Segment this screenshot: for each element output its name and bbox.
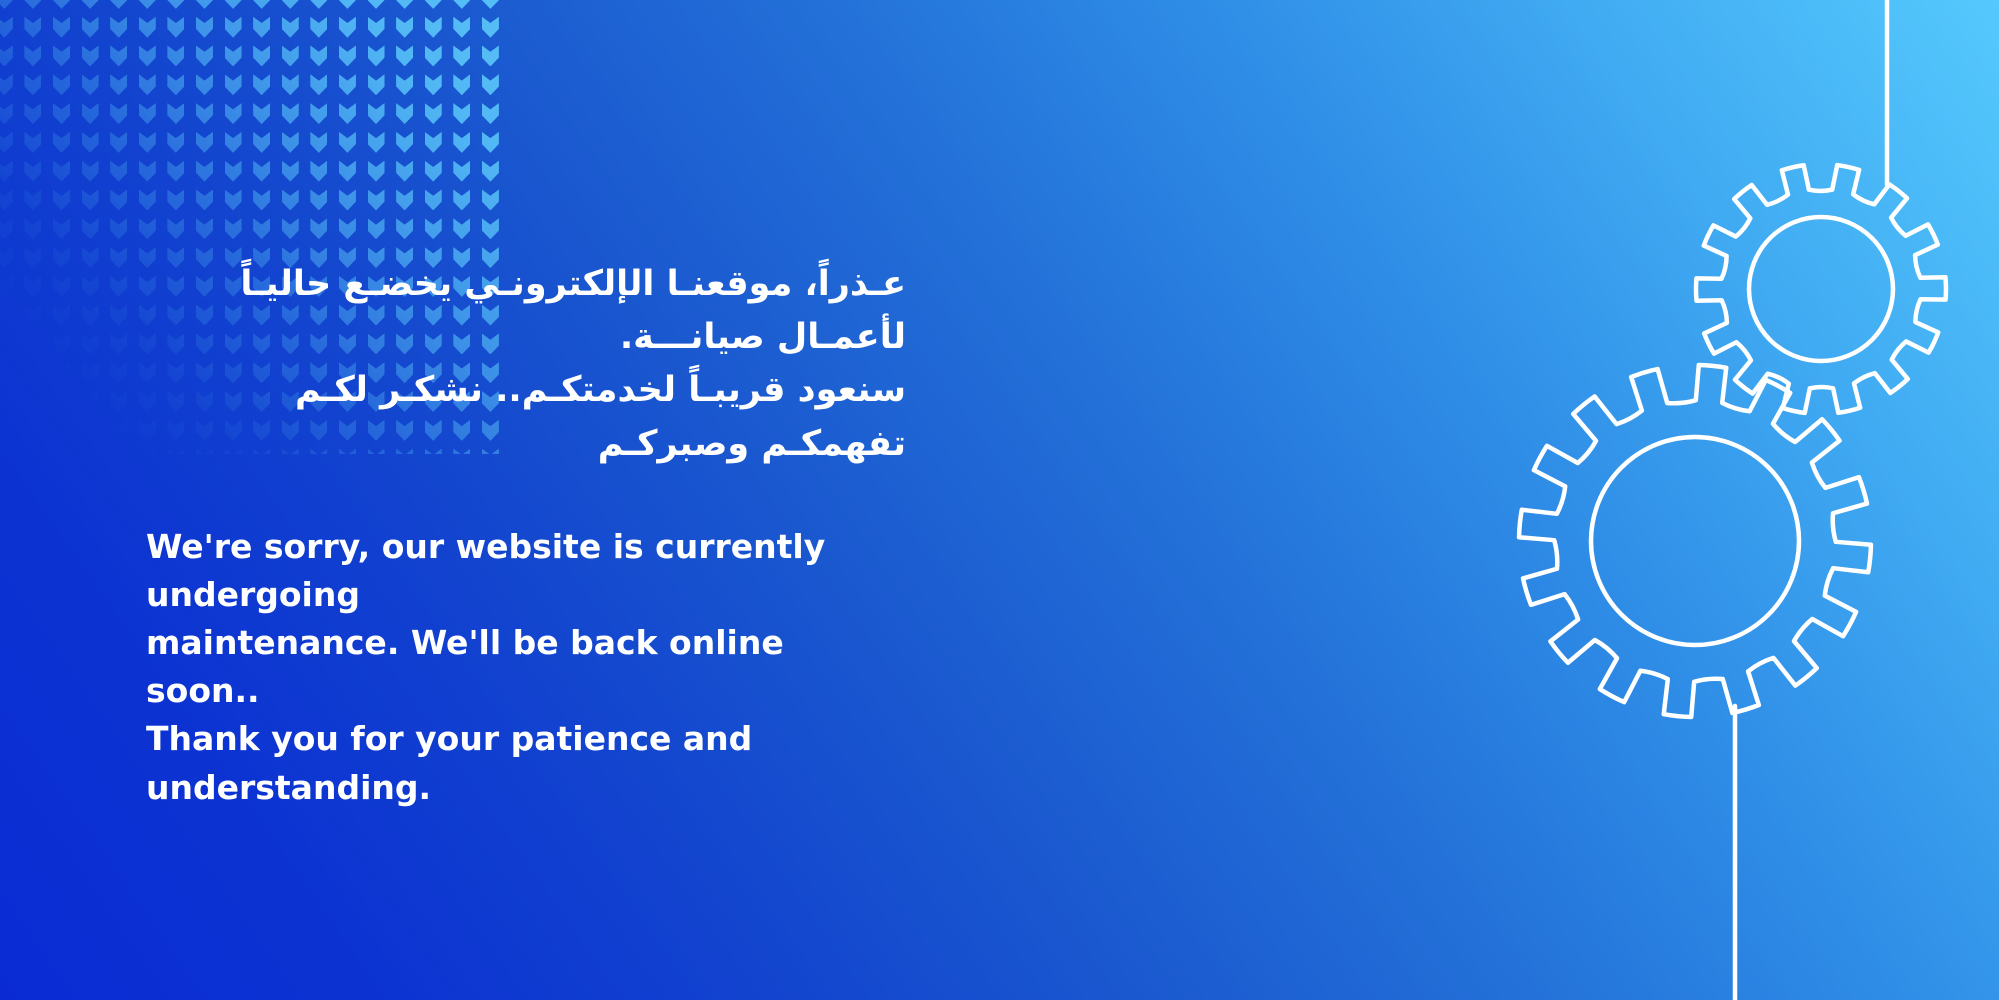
chevron-down-icon <box>453 161 470 182</box>
chevron-down-icon <box>425 161 442 182</box>
chevron-down-icon <box>482 161 499 182</box>
chevron-down-icon <box>339 218 356 239</box>
chevron-down-icon <box>110 420 127 441</box>
chevron-down-icon <box>24 0 41 9</box>
chevron-down-icon <box>110 74 127 95</box>
chevron-down-icon <box>282 74 299 95</box>
chevron-down-icon <box>253 17 270 38</box>
chevron-down-icon <box>24 362 41 383</box>
chevron-down-icon <box>110 333 127 354</box>
chevron-down-icon <box>24 45 41 66</box>
chevron-down-icon <box>196 161 213 182</box>
chevron-down-icon <box>110 103 127 124</box>
chevron-down-icon <box>53 45 70 66</box>
chevron-down-icon <box>368 0 385 9</box>
chevron-down-icon <box>425 189 442 210</box>
message-block: عـذراً، موقعنـا الإلكترونـي يخضـع حاليـا… <box>146 258 906 812</box>
chevron-down-icon <box>139 74 156 95</box>
chevron-down-icon <box>53 333 70 354</box>
chevron-down-icon <box>253 132 270 153</box>
chevron-down-icon <box>139 189 156 210</box>
chevron-down-icon <box>53 103 70 124</box>
chevron-down-icon <box>453 218 470 239</box>
chevron-down-icon <box>110 449 127 454</box>
chevron-down-icon <box>53 362 70 383</box>
chevron-down-icon <box>0 420 13 441</box>
chevron-down-icon <box>225 103 242 124</box>
chevron-down-icon <box>82 74 99 95</box>
chevron-down-icon <box>253 74 270 95</box>
chevron-down-icon <box>82 305 99 326</box>
chevron-down-icon <box>425 17 442 38</box>
chevron-down-icon <box>82 276 99 297</box>
chevron-down-icon <box>253 45 270 66</box>
chevron-down-icon <box>339 132 356 153</box>
chevron-down-icon <box>24 333 41 354</box>
chevron-down-icon <box>368 189 385 210</box>
chevron-down-icon <box>167 74 184 95</box>
chevron-down-icon <box>53 276 70 297</box>
chevron-down-icon <box>453 45 470 66</box>
chevron-down-icon <box>53 189 70 210</box>
chevron-down-icon <box>310 161 327 182</box>
chevron-down-icon <box>0 247 13 268</box>
chevron-down-icon <box>110 362 127 383</box>
chevron-down-icon <box>110 218 127 239</box>
chevron-down-icon <box>253 161 270 182</box>
chevron-down-icon <box>82 218 99 239</box>
chevron-down-icon <box>139 161 156 182</box>
chevron-down-icon <box>0 74 13 95</box>
chevron-down-icon <box>225 132 242 153</box>
chevron-down-icon <box>110 161 127 182</box>
chevron-down-icon <box>110 305 127 326</box>
chevron-down-icon <box>225 189 242 210</box>
chevron-down-icon <box>339 189 356 210</box>
chevron-down-icon <box>339 0 356 9</box>
chevron-down-icon <box>167 189 184 210</box>
chevron-down-icon <box>110 0 127 9</box>
chevron-down-icon <box>0 103 13 124</box>
chevron-down-icon <box>425 132 442 153</box>
chevron-down-icon <box>482 17 499 38</box>
chevron-down-icon <box>310 0 327 9</box>
chevron-down-icon <box>310 17 327 38</box>
chevron-down-icon <box>310 218 327 239</box>
chevron-down-icon <box>453 74 470 95</box>
chevron-down-icon <box>53 161 70 182</box>
chevron-down-icon <box>24 247 41 268</box>
chevron-down-icon <box>282 0 299 9</box>
chevron-down-icon <box>368 45 385 66</box>
chevron-down-icon <box>24 161 41 182</box>
chevron-down-icon <box>368 132 385 153</box>
chevron-down-icon <box>0 333 13 354</box>
chevron-down-icon <box>396 74 413 95</box>
chevron-down-icon <box>482 132 499 153</box>
chevron-down-icon <box>482 218 499 239</box>
chevron-down-icon <box>368 74 385 95</box>
chevron-down-icon <box>396 103 413 124</box>
english-message: We're sorry, our website is currently un… <box>146 471 906 812</box>
chevron-down-icon <box>0 45 13 66</box>
chevron-down-icon <box>24 74 41 95</box>
chevron-down-icon <box>368 218 385 239</box>
chevron-down-icon <box>396 45 413 66</box>
chevron-down-icon <box>282 132 299 153</box>
chevron-down-icon <box>24 305 41 326</box>
chevron-down-icon <box>24 17 41 38</box>
chevron-down-icon <box>225 161 242 182</box>
chevron-down-icon <box>167 218 184 239</box>
chevron-down-icon <box>282 189 299 210</box>
chevron-down-icon <box>396 0 413 9</box>
chevron-down-icon <box>196 103 213 124</box>
chevron-down-icon <box>82 45 99 66</box>
chevron-down-icon <box>167 0 184 9</box>
chevron-down-icon <box>82 333 99 354</box>
chevron-down-icon <box>196 17 213 38</box>
chevron-down-icon <box>24 420 41 441</box>
chevron-down-icon <box>425 74 442 95</box>
chevron-down-icon <box>225 74 242 95</box>
chevron-down-icon <box>453 189 470 210</box>
chevron-down-icon <box>282 103 299 124</box>
chevron-down-icon <box>196 74 213 95</box>
chevron-down-icon <box>139 218 156 239</box>
chevron-down-icon <box>225 218 242 239</box>
chevron-down-icon <box>253 0 270 9</box>
arabic-message: عـذراً، موقعنـا الإلكترونـي يخضـع حاليـا… <box>146 258 906 471</box>
chevron-down-icon <box>196 218 213 239</box>
chevron-down-icon <box>339 161 356 182</box>
chevron-down-icon <box>82 0 99 9</box>
chevron-down-icon <box>482 45 499 66</box>
chevron-down-icon <box>167 161 184 182</box>
chevron-down-icon <box>282 161 299 182</box>
chevron-down-icon <box>425 0 442 9</box>
chevron-down-icon <box>167 132 184 153</box>
chevron-down-icon <box>453 132 470 153</box>
chevron-down-icon <box>339 103 356 124</box>
chevron-down-icon <box>82 362 99 383</box>
chevron-down-icon <box>24 132 41 153</box>
chevron-down-icon <box>167 17 184 38</box>
chevron-down-icon <box>139 45 156 66</box>
chevron-down-icon <box>82 449 99 454</box>
chevron-down-icon <box>53 391 70 412</box>
chevron-down-icon <box>368 103 385 124</box>
chevron-down-icon <box>24 189 41 210</box>
chevron-down-icon <box>110 276 127 297</box>
chevron-down-icon <box>482 103 499 124</box>
chevron-down-icon <box>310 45 327 66</box>
chevron-down-icon <box>0 276 13 297</box>
chevron-down-icon <box>139 0 156 9</box>
chevron-down-icon <box>0 305 13 326</box>
chevron-down-icon <box>453 0 470 9</box>
chevron-down-icon <box>82 132 99 153</box>
chevron-down-icon <box>339 74 356 95</box>
chevron-down-icon <box>396 189 413 210</box>
chevron-down-icon <box>368 161 385 182</box>
chevron-down-icon <box>482 74 499 95</box>
chevron-down-icon <box>396 132 413 153</box>
chevron-down-icon <box>53 305 70 326</box>
chevron-down-icon <box>53 420 70 441</box>
chevron-down-icon <box>282 218 299 239</box>
chevron-down-icon <box>0 218 13 239</box>
chevron-down-icon <box>110 17 127 38</box>
chevron-down-icon <box>110 45 127 66</box>
chevron-down-icon <box>253 103 270 124</box>
chevron-down-icon <box>282 17 299 38</box>
chevron-down-icon <box>82 391 99 412</box>
chevron-down-icon <box>82 189 99 210</box>
chevron-down-icon <box>225 17 242 38</box>
chevron-down-icon <box>0 189 13 210</box>
chevron-down-icon <box>110 247 127 268</box>
chevron-down-icon <box>425 103 442 124</box>
chevron-down-icon <box>196 132 213 153</box>
chevron-down-icon <box>24 449 41 454</box>
chevron-down-icon <box>282 45 299 66</box>
chevron-down-icon <box>82 17 99 38</box>
chevron-down-icon <box>139 132 156 153</box>
chevron-down-icon <box>82 247 99 268</box>
chevron-down-icon <box>310 74 327 95</box>
chevron-down-icon <box>24 276 41 297</box>
chevron-down-icon <box>0 449 13 454</box>
chevron-down-icon <box>82 161 99 182</box>
chevron-down-icon <box>53 17 70 38</box>
chevron-down-icon <box>482 189 499 210</box>
chevron-down-icon <box>339 45 356 66</box>
chevron-down-icon <box>24 103 41 124</box>
chevron-down-icon <box>425 45 442 66</box>
chevron-down-icon <box>196 45 213 66</box>
chevron-down-icon <box>396 161 413 182</box>
chevron-down-icon <box>0 362 13 383</box>
chevron-down-icon <box>110 132 127 153</box>
chevron-down-icon <box>253 218 270 239</box>
chevron-down-icon <box>253 189 270 210</box>
chevron-down-icon <box>53 132 70 153</box>
chevron-down-icon <box>110 189 127 210</box>
chevron-down-icon <box>196 0 213 9</box>
chevron-down-icon <box>53 218 70 239</box>
chevron-down-icon <box>53 449 70 454</box>
chevron-down-icon <box>139 17 156 38</box>
chevron-down-icon <box>0 17 13 38</box>
chevron-down-icon <box>396 218 413 239</box>
chevron-down-icon <box>482 0 499 9</box>
chevron-down-icon <box>425 218 442 239</box>
chevron-down-icon <box>167 103 184 124</box>
chevron-down-icon <box>368 17 385 38</box>
maintenance-page: عـذراً، موقعنـا الإلكترونـي يخضـع حاليـا… <box>0 0 1999 1000</box>
chevron-down-icon <box>0 0 13 9</box>
chevron-down-icon <box>139 103 156 124</box>
chevron-down-icon <box>0 161 13 182</box>
chevron-down-icon <box>225 0 242 9</box>
chevron-down-icon <box>339 17 356 38</box>
chevron-down-icon <box>396 17 413 38</box>
chevron-down-icon <box>53 0 70 9</box>
chevron-down-icon <box>0 391 13 412</box>
chevron-down-icon <box>310 189 327 210</box>
chevron-down-icon <box>0 132 13 153</box>
chevron-down-icon <box>310 103 327 124</box>
chevron-down-icon <box>82 103 99 124</box>
chevron-down-icon <box>196 189 213 210</box>
chevron-down-icon <box>453 17 470 38</box>
chevron-down-icon <box>53 74 70 95</box>
chevron-down-icon <box>24 391 41 412</box>
chevron-down-icon <box>110 391 127 412</box>
chevron-down-icon <box>53 247 70 268</box>
chevron-down-icon <box>24 218 41 239</box>
chevron-down-icon <box>225 45 242 66</box>
chevron-down-icon <box>453 103 470 124</box>
chevron-down-icon <box>82 420 99 441</box>
chevron-down-icon <box>167 45 184 66</box>
chevron-down-icon <box>310 132 327 153</box>
